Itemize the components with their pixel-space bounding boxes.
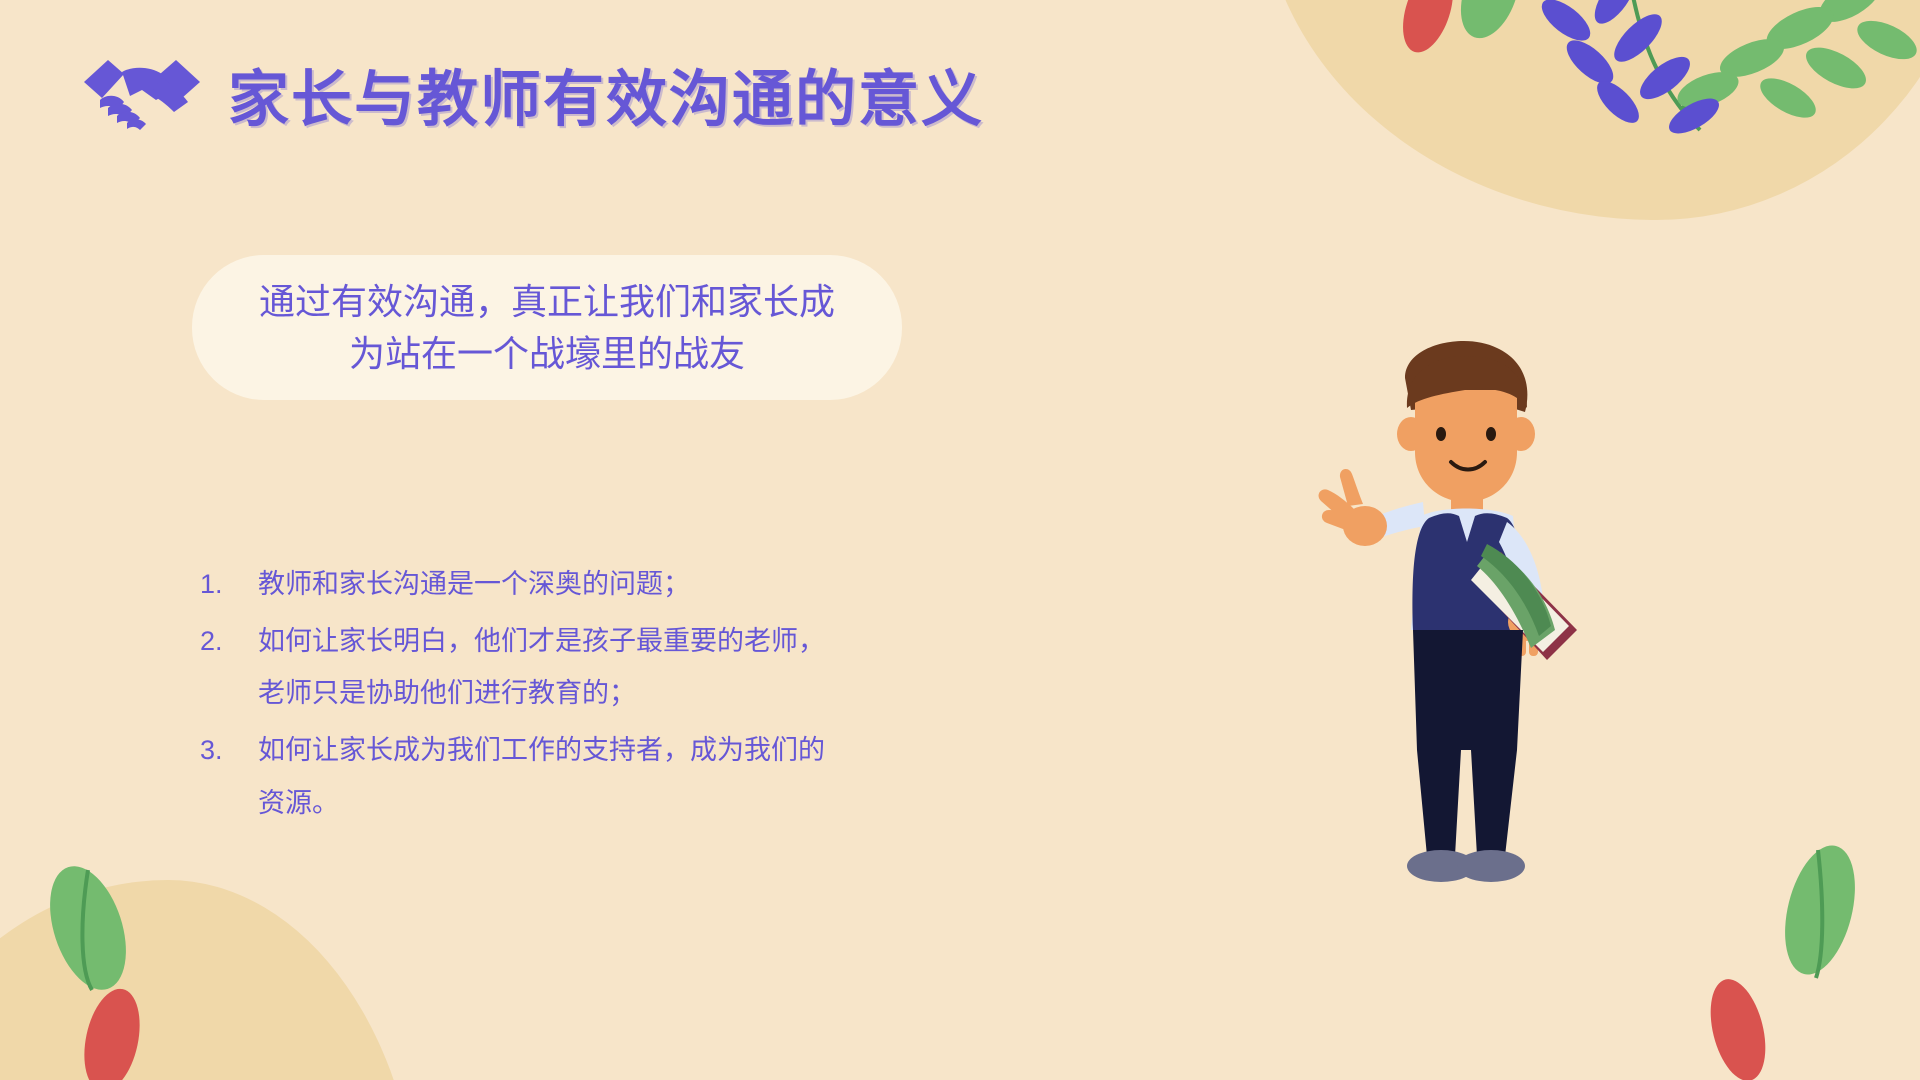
quote-callout-box: 通过有效沟通，真正让我们和家长成 为站在一个战壕里的战友: [192, 255, 902, 400]
list-item-number: 3.: [200, 724, 258, 777]
foliage-bottom-left: [0, 850, 330, 1080]
quote-text: 通过有效沟通，真正让我们和家长成 为站在一个战壕里的战友: [213, 276, 881, 378]
list-item: 2. 如何让家长明白，他们才是孩子最重要的老师， 老师只是协助他们进行教育的；: [200, 615, 1030, 720]
waving-hand-icon: [1319, 469, 1387, 546]
list-item-number: 1.: [200, 558, 258, 611]
list-item-text: 如何让家长成为我们工作的支持者，成为我们的 资源。: [258, 724, 1030, 829]
list-item-text: 教师和家长沟通是一个深奥的问题；: [258, 558, 1030, 611]
page-title: 家长与教师有效沟通的意义: [228, 49, 984, 138]
title-row: 家长与教师有效沟通的意义: [78, 48, 984, 138]
foliage-top-right: [1160, 0, 1920, 220]
list-item-number: 2.: [200, 615, 258, 668]
list-item-text: 如何让家长明白，他们才是孩子最重要的老师， 老师只是协助他们进行教育的；: [258, 615, 1030, 720]
list-item: 3. 如何让家长成为我们工作的支持者，成为我们的 资源。: [200, 724, 1030, 829]
points-list: 1. 教师和家长沟通是一个深奥的问题； 2. 如何让家长明白，他们才是孩子最重要…: [200, 558, 1030, 833]
handshake-icon: [78, 48, 206, 138]
list-item: 1. 教师和家长沟通是一个深奥的问题；: [200, 558, 1030, 611]
boy-waving-with-book-illustration: [1255, 330, 1675, 910]
